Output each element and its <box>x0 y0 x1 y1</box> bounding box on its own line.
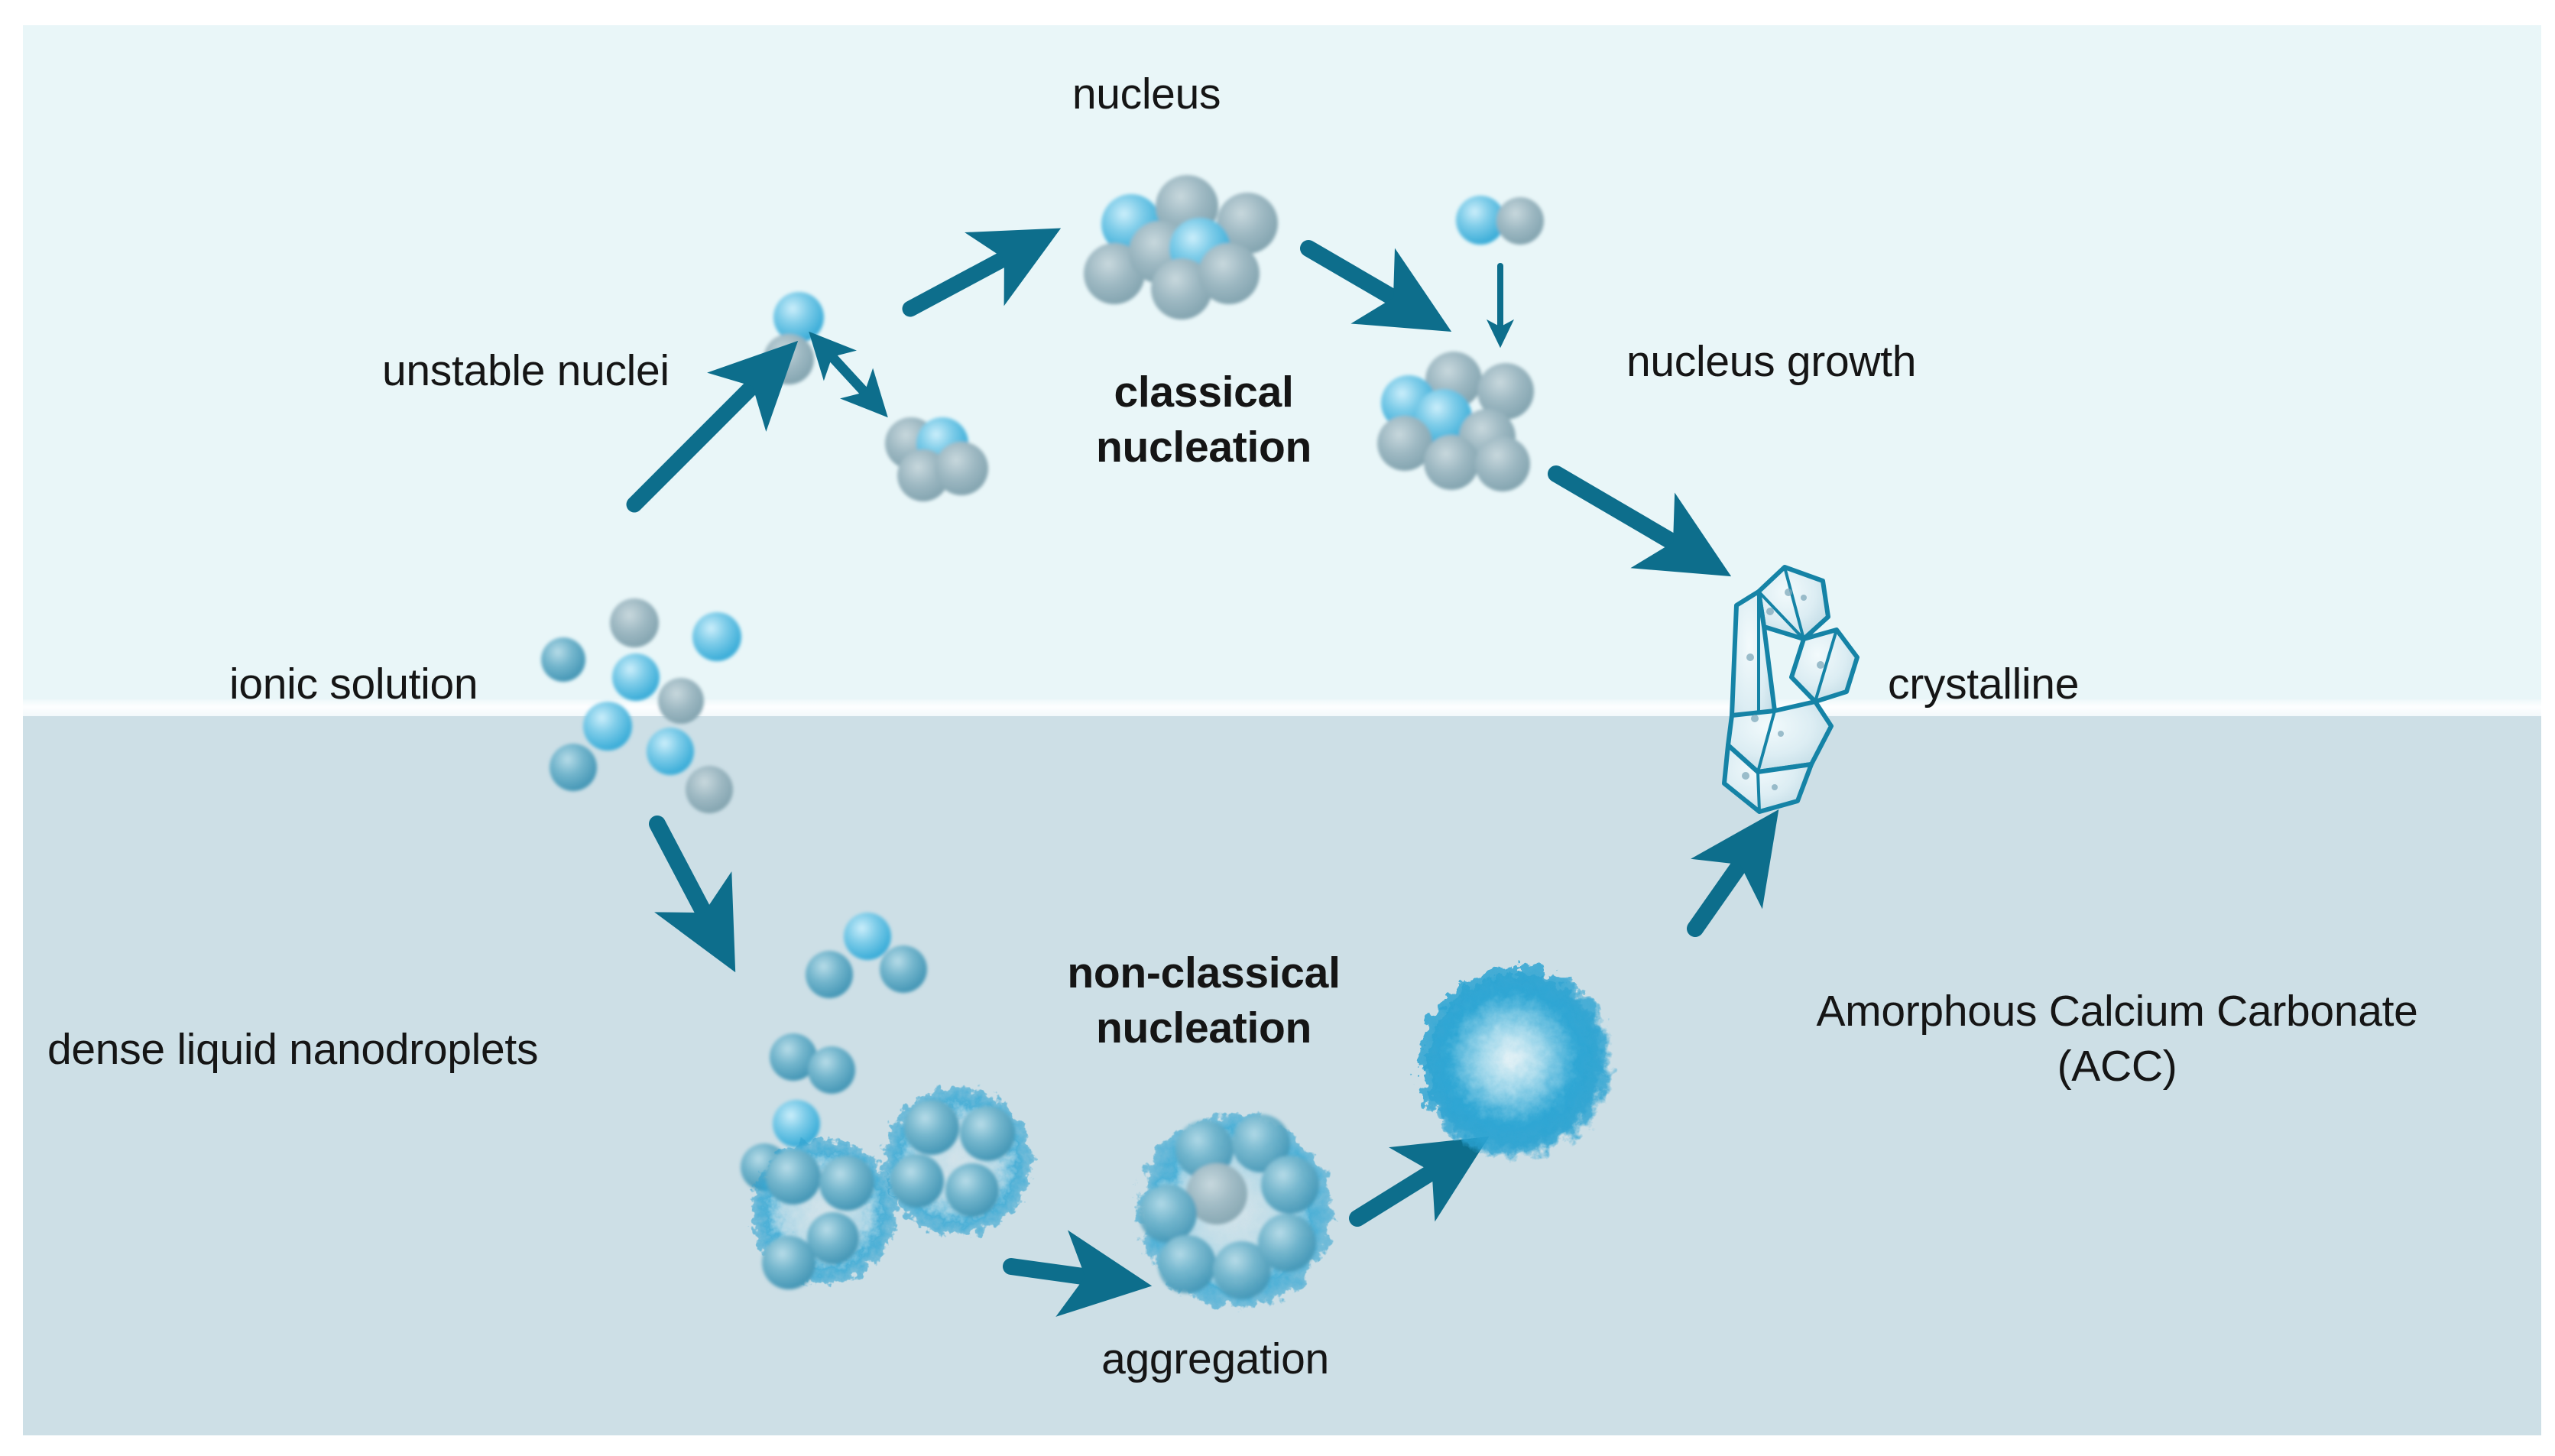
arrow-icon-acc-to-crystal <box>1695 839 1758 929</box>
label-classical-nucleation-line1: classical <box>1039 367 1368 418</box>
label-classical-nucleation-line2: nucleation <box>1039 422 1368 473</box>
label-acc-line2: (ACC) <box>1743 1041 2492 1092</box>
arrow-icon-aggregate-to-acc <box>1357 1156 1458 1218</box>
arrow-icon-droplets-to-aggregate <box>1011 1266 1116 1281</box>
incoming-ion-dimer <box>1456 196 1544 245</box>
label-nonclassical-nucleation-line1: non-classical <box>1039 948 1368 999</box>
arrow-icon-nucleus-to-growth <box>1308 248 1420 313</box>
label-crystalline: crystalline <box>1888 659 2079 710</box>
figure-canvas: nucleus unstable nuclei classical nuclea… <box>0 0 2555 1456</box>
label-nucleus-growth: nucleus growth <box>1626 336 1916 388</box>
crystal-icon <box>1724 567 1857 812</box>
label-acc-line1: Amorphous Calcium Carbonate <box>1743 986 2492 1037</box>
arrow-icon-growth-to-crystal <box>1556 474 1700 558</box>
nanodroplet-icon-b <box>883 1087 1033 1237</box>
arrow-icon-unstable-to-nucleus <box>910 245 1030 309</box>
diagram-artwork <box>0 0 2555 1456</box>
ionic-solution-ions <box>541 598 741 813</box>
label-nonclassical-nucleation-line2: nucleation <box>1039 1003 1368 1054</box>
label-ionic-solution: ionic solution <box>229 659 478 710</box>
unstable-nuclei-tetramer <box>885 417 988 501</box>
aggregated-droplet-icon <box>1136 1114 1332 1309</box>
double-headed-arrow-icon <box>822 345 875 404</box>
acc-particle-icon <box>1419 966 1615 1162</box>
arrow-icon-ionic-to-droplets <box>657 824 718 940</box>
label-nucleus: nucleus <box>1032 69 1261 120</box>
grown-nucleus-cluster <box>1377 352 1534 491</box>
nanodroplet-icon-a <box>751 1138 897 1289</box>
nucleus-cluster <box>1084 175 1278 319</box>
label-unstable-nuclei: unstable nuclei <box>382 345 670 397</box>
label-aggregation: aggregation <box>1078 1334 1353 1385</box>
label-dense-liquid-nanodroplets: dense liquid nanodroplets <box>47 1024 538 1075</box>
